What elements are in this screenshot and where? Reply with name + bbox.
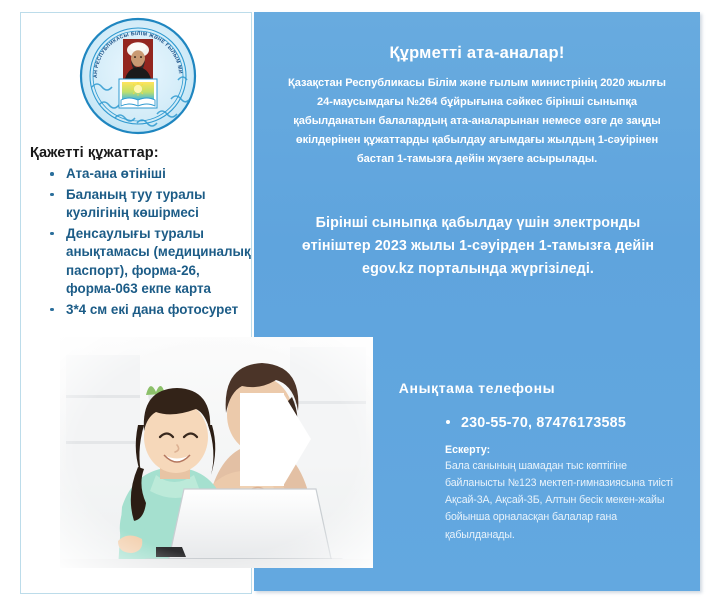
required-documents-block: Қажетті құжаттар: Ата-ана өтініші Баланы… bbox=[30, 145, 258, 321]
panel-highlight-text: Бірінші сыныпқа қабылдау үшін электронды… bbox=[282, 212, 674, 281]
list-item: Ата-ана өтініші bbox=[48, 165, 258, 184]
note-title: Ескерту: bbox=[445, 444, 685, 456]
poster-root: Құрметті ата-аналар! Қазақстан Республик… bbox=[0, 0, 717, 609]
phone-number-text: 230-55-70, 87476173585 bbox=[461, 415, 626, 431]
list-item: Денсаулығы туралы анықтамасы (медициналы… bbox=[48, 225, 258, 299]
list-item: 3*4 см екі дана фотосурет bbox=[48, 301, 258, 320]
required-documents-list: Ата-ана өтініші Баланың туу туралы куәлі… bbox=[30, 165, 258, 319]
school-emblem-icon: ҚАЗАҚСТАН РЕСПУБЛИКАСЫ БІЛІМ ЖӘНЕ ҒЫЛЫМ … bbox=[79, 17, 197, 135]
note-block: Ескерту: Бала санының шамадан тыс көптіг… bbox=[445, 444, 685, 544]
required-documents-title: Қажетті құжаттар: bbox=[30, 145, 258, 161]
phone-number-item: 230-55-70, 87476173585 bbox=[446, 415, 626, 431]
list-item: Баланың туу туралы куәлігінің көшірмесі bbox=[48, 186, 258, 223]
bullet-icon bbox=[446, 420, 450, 424]
panel-paragraph: Қазақстан Республикасы Білім және ғылым … bbox=[284, 74, 670, 169]
panel-heading: Құрметті ата-аналар! bbox=[254, 44, 700, 63]
family-laptop-photo bbox=[60, 337, 373, 568]
note-body: Бала санының шамадан тыс көптігіне байла… bbox=[445, 458, 685, 544]
